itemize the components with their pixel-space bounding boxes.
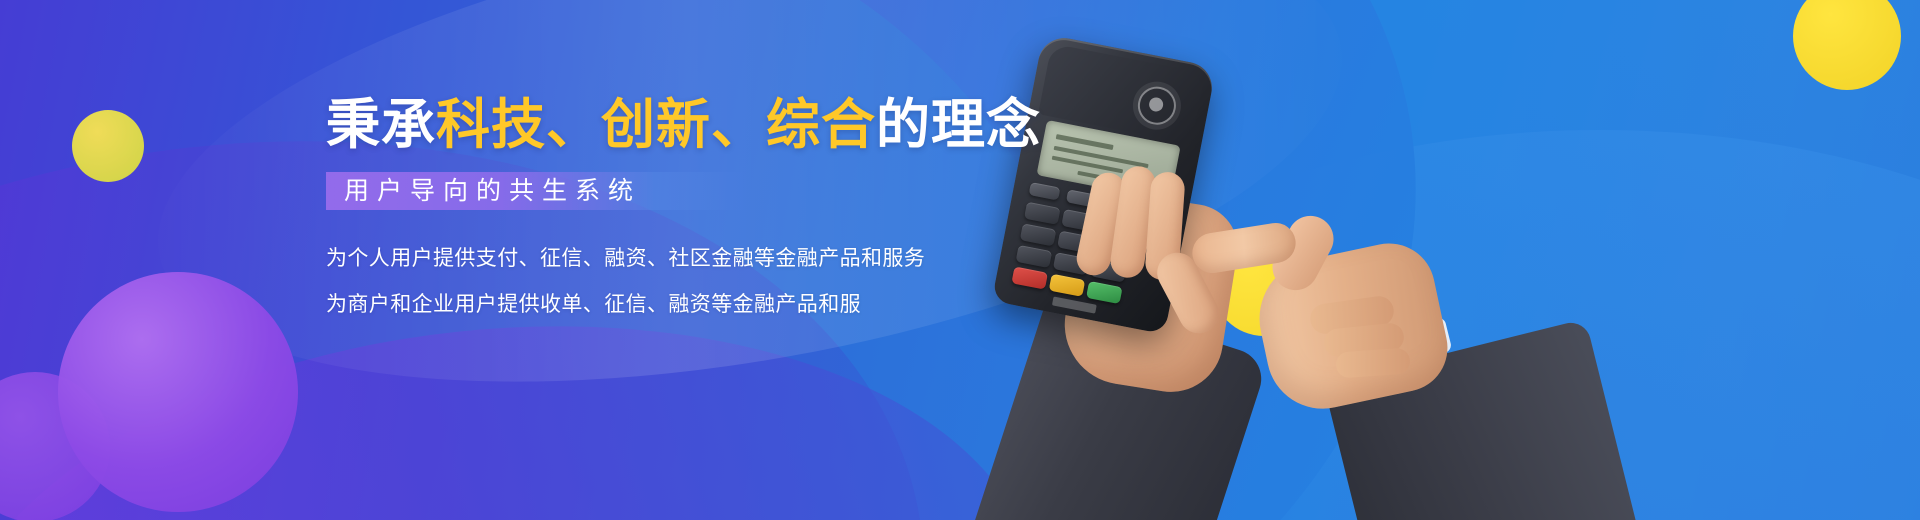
nfc-contactless-icon [1135,83,1180,128]
banner-text-content: 秉承科技、创新、综合的理念 用户导向的共生系统 为个人用户提供支付、征信、融资、… [326,96,1086,328]
decorative-circle-purple-bottomleft [58,272,298,512]
keypad-enter-key [1086,281,1123,304]
banner-body-line-2: 为商户和企业用户提供收单、征信、融资等金融产品和服 [326,282,1086,328]
decorative-circle-yellow-topleft [72,110,144,182]
banner-body-line-1: 为个人用户提供支付、征信、融资、社区金融等金融产品和服务 [326,236,1086,282]
headline-accent-text: 科技、创新、综合 [436,95,876,155]
headline-part-two: 的理念 [876,95,1041,155]
banner-subtitle: 用户导向的共生系统 [326,172,746,210]
right-hand-knuckle [1335,347,1411,378]
promo-banner: 秉承科技、创新、综合的理念 用户导向的共生系统 为个人用户提供支付、征信、融资、… [0,0,1920,520]
subtitle-label: 用户导向的共生系统 [344,173,641,209]
banner-headline: 秉承科技、创新、综合的理念 [326,96,1086,154]
headline-part-one: 秉承 [326,95,436,155]
